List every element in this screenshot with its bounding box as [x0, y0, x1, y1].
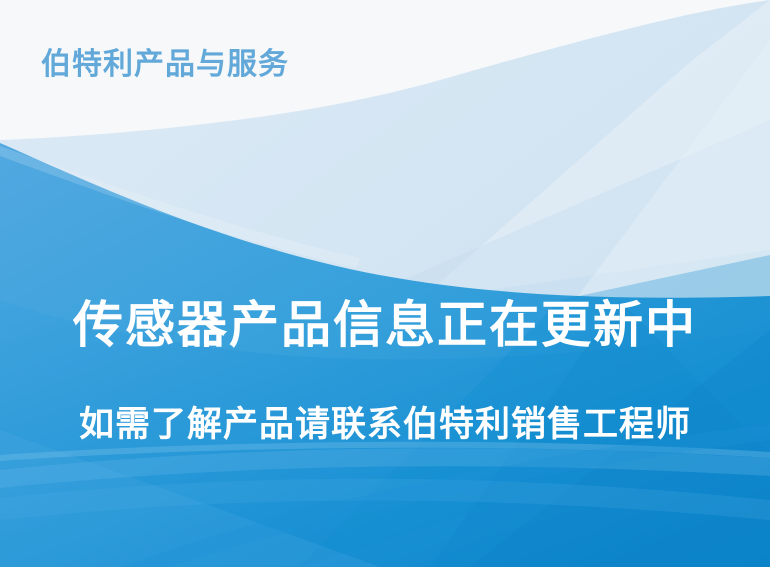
- headline-message: 传感器产品信息正在更新中: [0, 296, 770, 355]
- subline-message: 如需了解产品请联系伯特利销售工程师: [0, 404, 770, 446]
- product-service-banner: 伯特利产品与服务 传感器产品信息正在更新中 如需了解产品请联系伯特利销售工程师: [0, 0, 770, 567]
- page-title: 伯特利产品与服务: [41, 48, 289, 83]
- banner-text-layer: 伯特利产品与服务 传感器产品信息正在更新中 如需了解产品请联系伯特利销售工程师: [0, 0, 770, 567]
